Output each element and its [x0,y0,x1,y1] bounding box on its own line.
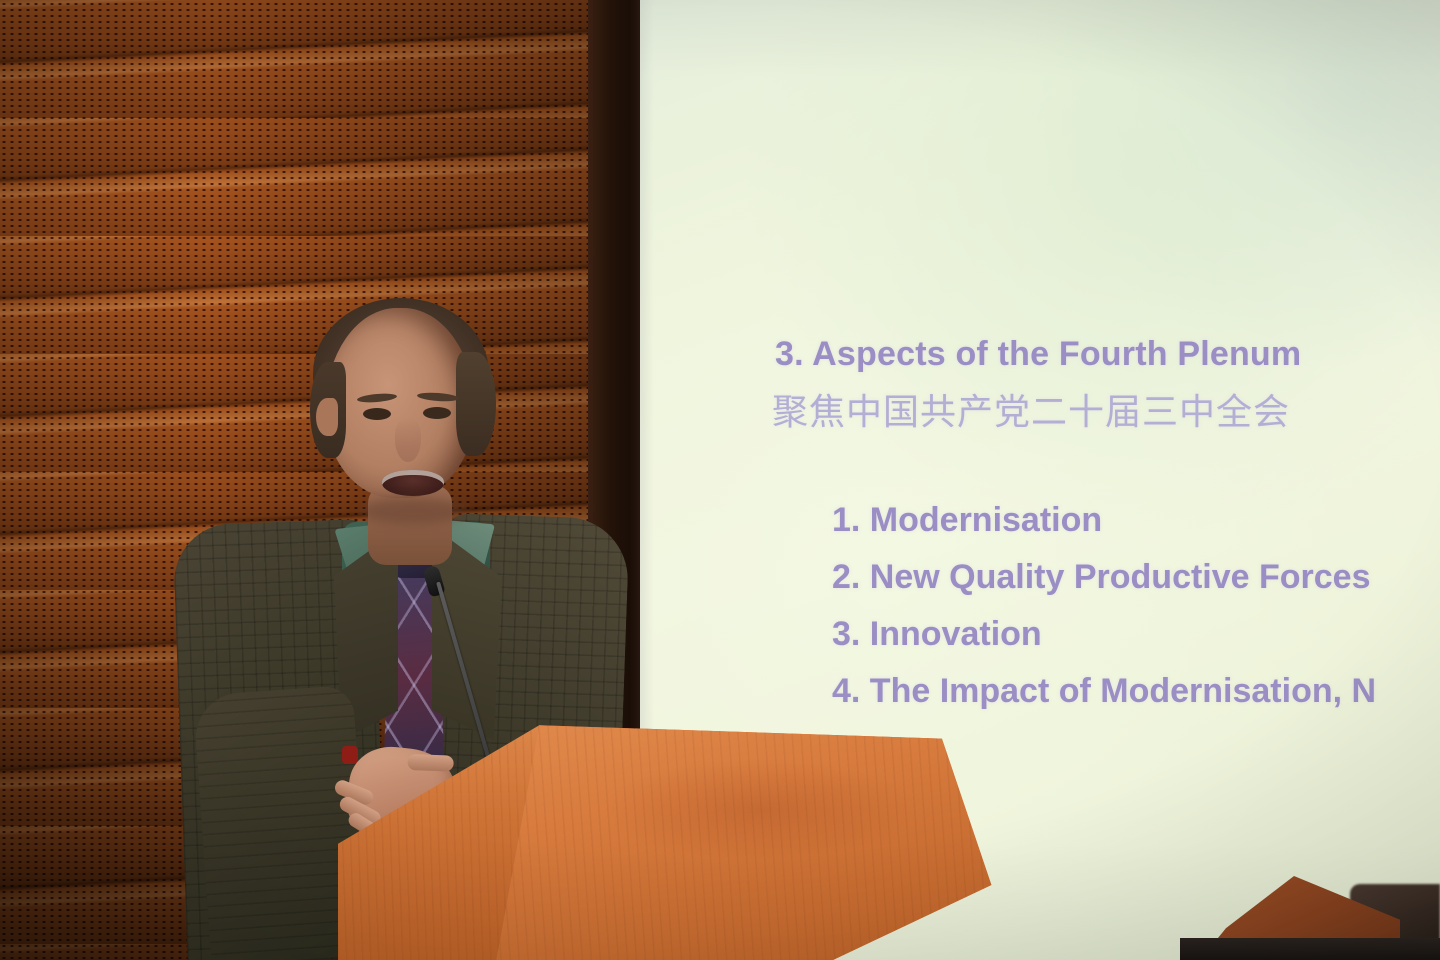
ear [316,398,338,436]
nose [395,418,421,462]
slide-title: 3. Aspects of the Fourth Plenum [775,335,1301,374]
laptop-base [1180,938,1440,960]
hair-right-side [456,352,496,456]
chin-shadow [360,498,468,524]
slide-list-item: 2. New Quality Productive Forces [832,549,1376,606]
slide-bullet-list: 1. Modernisation 2. New Quality Producti… [832,492,1376,720]
slide-list-item: 3. Innovation [832,606,1376,663]
eye-right [423,407,451,419]
mouth [382,470,444,496]
lectern [338,718,998,960]
slide-subtitle-chinese: 聚焦中国共产党二十届三中全会 [772,383,1290,435]
face [325,308,475,498]
eye-left [363,408,391,420]
open-laptop [1180,862,1440,960]
slide-list-item: 4. The Impact of Modernisation, N [832,663,1376,720]
slide-list-item: 1. Modernisation [832,492,1376,549]
presentation-photo: 3. Aspects of the Fourth Plenum 聚焦中国共产党二… [0,0,1440,960]
